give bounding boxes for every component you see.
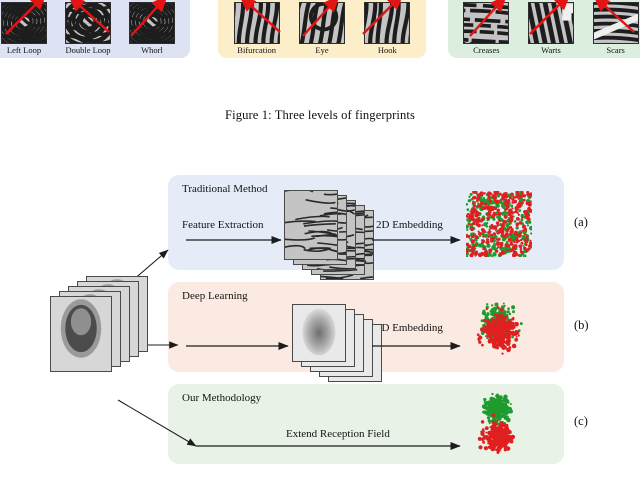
pipeline-row-c: Our MethodologyExtend Reception Field(c) — [168, 384, 564, 464]
level-item-label: Left Loop — [7, 46, 41, 55]
pipeline-row-title: Deep Learning — [182, 290, 248, 302]
level-item: Creases — [458, 2, 514, 55]
fingerprint-left-loop-thumb — [1, 2, 47, 44]
stack-sheet — [284, 190, 338, 260]
figure-page: Creases Warts Scars Bifurcation Eye Hook… — [0, 0, 640, 483]
stack-sheet — [292, 304, 346, 362]
pipeline-row-b: Deep Learning2D Embedding — [168, 282, 564, 372]
level-item: Left Loop — [0, 2, 52, 55]
fingerprint-double-loop-thumb — [65, 2, 111, 44]
separated-red-green-scatter — [466, 392, 530, 456]
pipeline-row-title: Traditional Method — [182, 183, 267, 195]
stack-sheet — [50, 296, 112, 372]
level-item: Hook — [359, 2, 415, 55]
level-item: Bifurcation — [229, 2, 285, 55]
level-panel-level-1-pattern: Left Loop Double Loop Whorl — [0, 0, 190, 58]
fingerprint-eye-thumb — [299, 2, 345, 44]
level-item: Scars — [588, 2, 640, 55]
level-item-label: Warts — [541, 46, 561, 55]
level-item-label: Whorl — [141, 46, 163, 55]
pipeline-embedding-label: 2D Embedding — [376, 219, 443, 231]
fingerprint-scars-thumb — [593, 2, 639, 44]
ridge-texture-image-stack — [284, 190, 381, 283]
fingerprint-hook-thumb — [364, 2, 410, 44]
pipeline-row-tag: (a) — [574, 215, 588, 230]
pipeline-row-tag: (c) — [574, 414, 588, 429]
pipeline-row-title: Our Methodology — [182, 392, 261, 404]
fingerprint-image-stack — [50, 296, 168, 402]
fingerprint-whorl-thumb — [129, 2, 175, 44]
fingerprint-bifurcation-thumb — [234, 2, 280, 44]
overlapping-red-green-scatter — [466, 292, 532, 364]
three-levels-panel-group: Creases Warts Scars Bifurcation Eye Hook… — [0, 0, 640, 70]
fingerprint-creases-thumb — [463, 2, 509, 44]
level-item-label: Scars — [606, 46, 624, 55]
fingerprint-warts-thumb — [528, 2, 574, 44]
level-item-label: Creases — [473, 46, 499, 55]
pipeline-row-a: Traditional MethodFeature Extraction2D E… — [168, 175, 564, 270]
pipeline-row-tag: (b) — [574, 318, 589, 333]
level-panel-level-3-detail: Creases Warts Scars — [448, 0, 640, 58]
level-item: Eye — [294, 2, 350, 55]
pipeline-step-label: Extend Reception Field — [286, 428, 390, 440]
level-item: Double Loop — [60, 2, 116, 55]
level-item-label: Bifurcation — [237, 46, 276, 55]
level-item: Whorl — [124, 2, 180, 55]
feature-map-image-stack — [292, 304, 389, 385]
level-item-label: Eye — [315, 46, 328, 55]
level-item: Warts — [523, 2, 579, 55]
level-panel-level-2-minutiae: Bifurcation Eye Hook — [218, 0, 426, 58]
level-item-label: Double Loop — [65, 46, 110, 55]
pipeline-step-label: Feature Extraction — [182, 219, 264, 231]
figure-caption: Figure 1: Three levels of fingerprints — [0, 108, 640, 123]
level-item-label: Hook — [378, 46, 397, 55]
mixed-red-green-scatter — [466, 191, 532, 257]
